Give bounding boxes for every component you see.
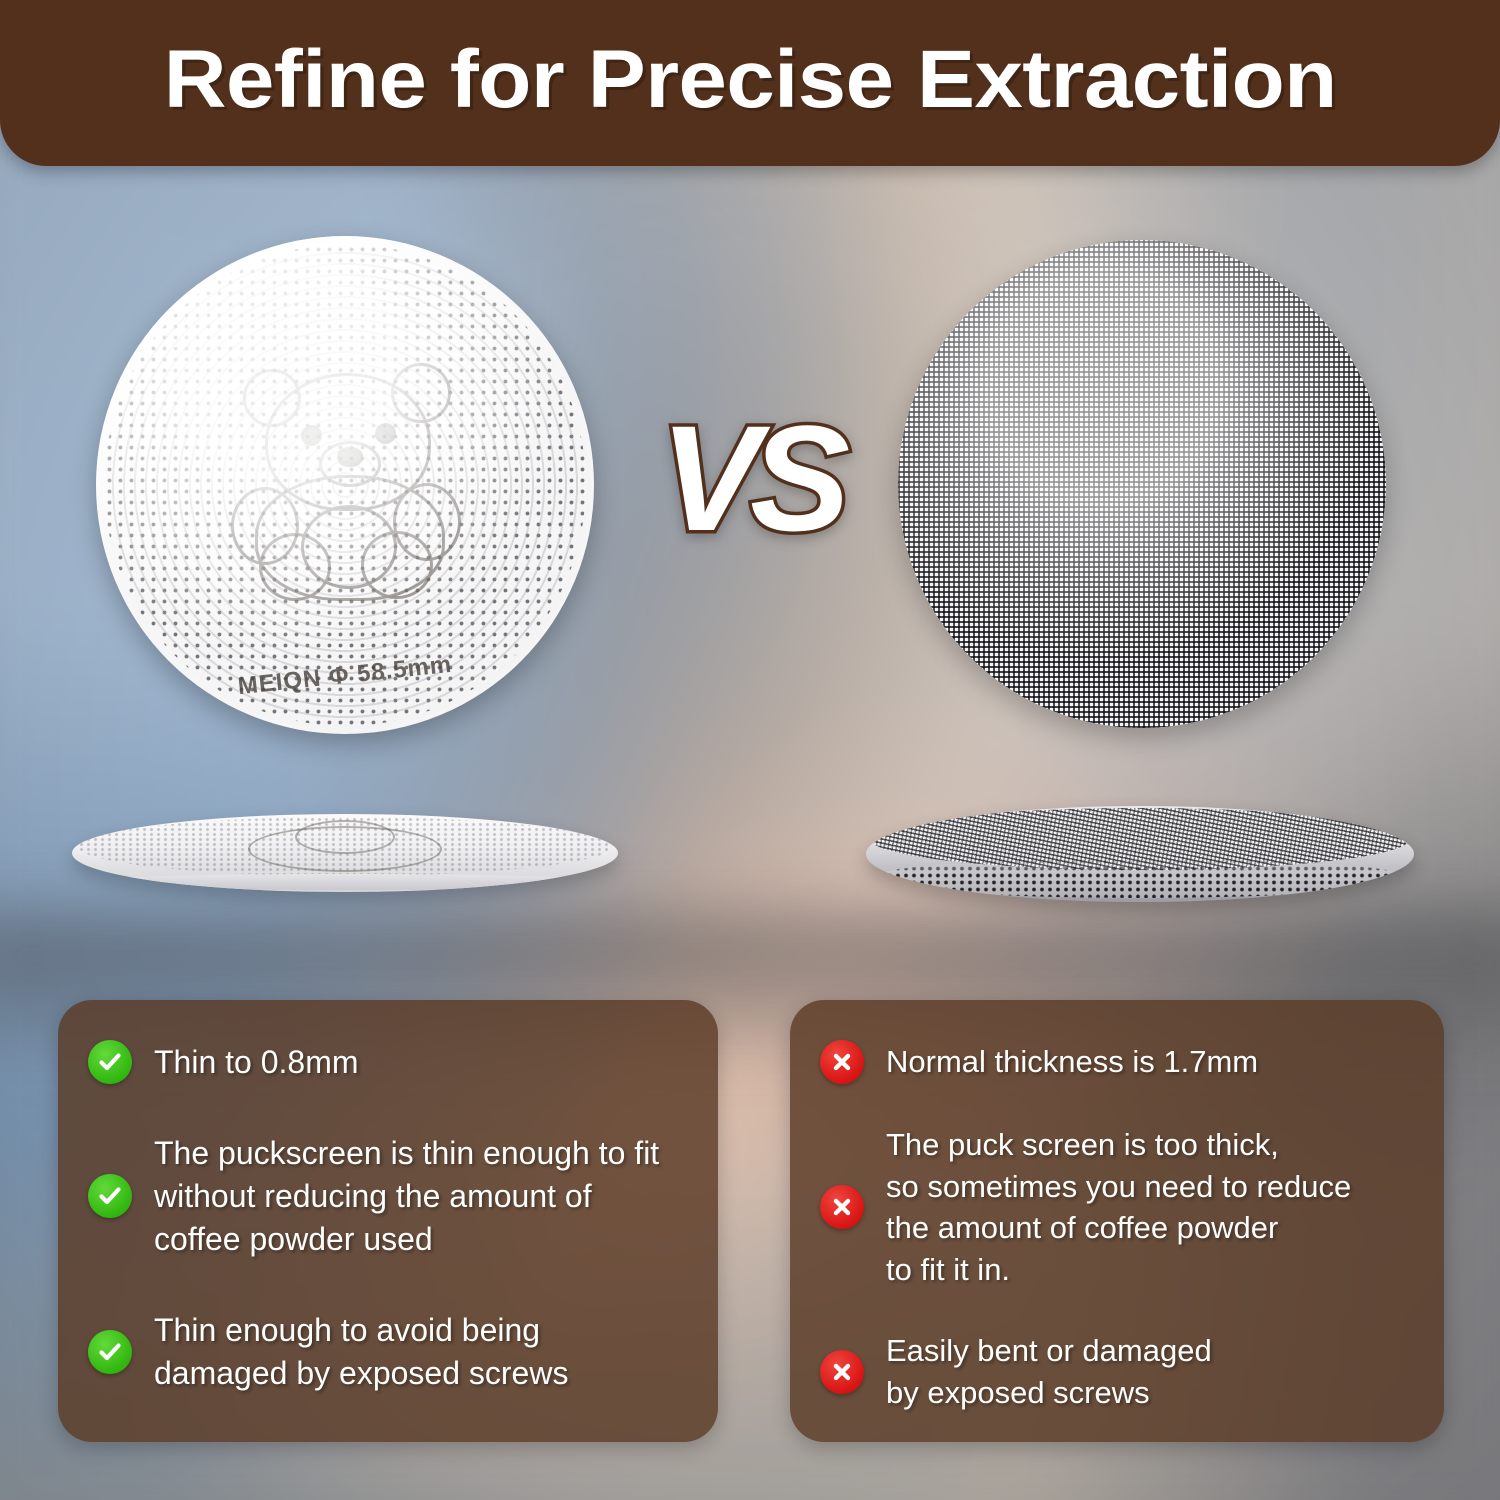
right-product-top-view — [898, 240, 1386, 728]
vs-badge: VS — [640, 388, 860, 568]
left-side-thin-edge — [74, 874, 616, 890]
left-product-top-view: MEIQN Φ 58.5mm — [96, 236, 594, 734]
pros-feature-3-text: Thin enough to avoid being damaged by ex… — [154, 1309, 568, 1395]
right-product-side-view — [866, 806, 1414, 902]
pros-feature-1: Thin to 0.8mm — [88, 1040, 684, 1084]
cons-feature-2-text: The puck screen is too thick, so sometim… — [886, 1124, 1351, 1290]
check-circle-icon — [88, 1330, 132, 1374]
cross-circle-icon — [820, 1040, 864, 1084]
page-title: Refine for Precise Extraction — [164, 39, 1337, 127]
infographic-canvas: Refine for Precise Extraction MEIQN Φ 58… — [0, 0, 1500, 1500]
cons-feature-1-text: Normal thickness is 1.7mm — [886, 1041, 1258, 1083]
cross-circle-icon — [820, 1350, 864, 1394]
cons-feature-2: The puck screen is too thick, so sometim… — [820, 1124, 1410, 1290]
header-banner: Refine for Precise Extraction — [0, 0, 1500, 166]
cons-feature-3: Easily bent or damaged by exposed screws — [820, 1330, 1410, 1413]
check-circle-icon — [88, 1040, 132, 1084]
vs-label: VS — [660, 403, 840, 553]
cons-panel: Normal thickness is 1.7mm The puck scree… — [790, 1000, 1444, 1442]
cons-feature-3-text: Easily bent or damaged by exposed screws — [886, 1330, 1212, 1413]
right-side-thick-edge — [870, 858, 1410, 898]
pros-panel: Thin to 0.8mm The puckscreen is thin eno… — [58, 1000, 718, 1442]
left-side-bear-head-outline — [295, 820, 395, 854]
left-product-side-view — [72, 814, 618, 892]
pros-feature-2-text: The puckscreen is thin enough to fit wit… — [154, 1132, 659, 1261]
pros-feature-3: Thin enough to avoid being damaged by ex… — [88, 1309, 684, 1395]
check-circle-icon — [88, 1174, 132, 1218]
cons-feature-1: Normal thickness is 1.7mm — [820, 1040, 1410, 1084]
mesh-highlight — [898, 240, 1386, 728]
cross-circle-icon — [820, 1185, 864, 1229]
pros-feature-1-text: Thin to 0.8mm — [154, 1041, 359, 1084]
bear-engraving-icon — [215, 355, 475, 605]
pros-feature-2: The puckscreen is thin enough to fit wit… — [88, 1132, 684, 1261]
